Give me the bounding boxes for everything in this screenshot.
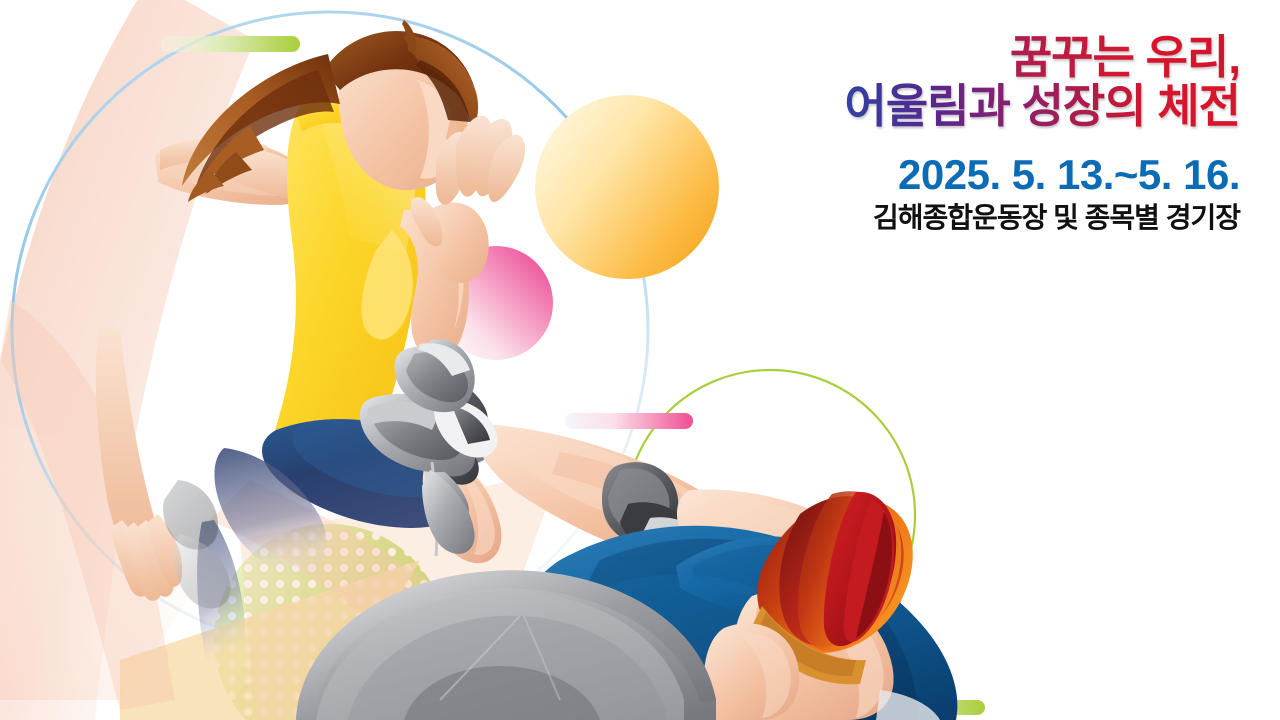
event-date-range: 2025. 5. 13.~5. 16. [720, 153, 1240, 197]
poster-canvas: 꿈꾸는 우리, 어울림과 성장의 체전 2025. 5. 13.~5. 16. … [0, 0, 1280, 720]
green-bar-top [160, 36, 300, 52]
poster-text-block: 꿈꾸는 우리, 어울림과 성장의 체전 2025. 5. 13.~5. 16. … [720, 34, 1240, 234]
event-venue: 김해종합운동장 및 종목별 경기장 [720, 203, 1240, 234]
orange-circle [535, 95, 719, 279]
headline-line-1: 꿈꾸는 우리, [720, 34, 1240, 81]
headline-line-2: 어울림과 성장의 체전 [720, 83, 1240, 130]
pink-bar [565, 413, 693, 429]
